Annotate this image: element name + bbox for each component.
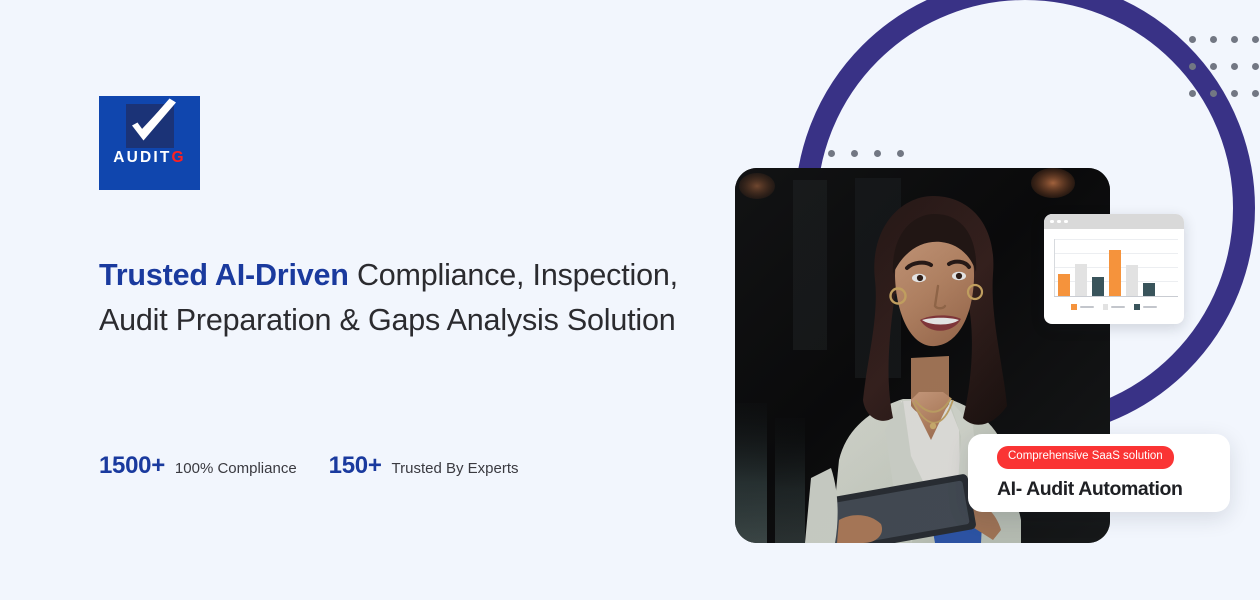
dot xyxy=(1231,90,1238,97)
decorative-dot-grid xyxy=(1189,36,1260,104)
window-dot xyxy=(1064,220,1068,224)
dot xyxy=(1210,36,1217,43)
chart-y-axis xyxy=(1054,239,1055,297)
brand-logo[interactable]: AUDITG xyxy=(99,96,200,190)
chart-bar xyxy=(1126,265,1138,296)
chart-bar xyxy=(1058,274,1070,296)
chart-bar xyxy=(1109,250,1121,296)
dot xyxy=(828,150,835,157)
chart-bars xyxy=(1058,238,1178,296)
stat-label: Trusted By Experts xyxy=(392,460,519,477)
stat-number: 150+ xyxy=(329,452,382,480)
dot xyxy=(1189,90,1196,97)
status-badge: Comprehensive SaaS solution xyxy=(997,446,1174,469)
logo-square xyxy=(126,104,174,148)
chart-legend-swatch xyxy=(1071,304,1077,310)
dot xyxy=(1210,90,1217,97)
dot xyxy=(1189,63,1196,70)
chart-legend-item xyxy=(1134,304,1157,310)
stat-label: 100% Compliance xyxy=(175,460,297,477)
chart-bar xyxy=(1092,277,1104,296)
dot xyxy=(1231,63,1238,70)
stat-number: 1500+ xyxy=(99,452,165,480)
hero-left-column: AUDITG Trusted AI-Driven Compliance, Ins… xyxy=(99,0,699,600)
chart-legend xyxy=(1044,301,1184,310)
chart-legend-label xyxy=(1080,306,1094,308)
window-dot xyxy=(1050,220,1054,224)
feature-card-title: AI- Audit Automation xyxy=(997,478,1230,501)
dot xyxy=(1252,63,1259,70)
chart-legend-label xyxy=(1111,306,1125,308)
chart-bar xyxy=(1075,264,1087,296)
stats-row: 1500+ 100% Compliance 150+ Trusted By Ex… xyxy=(99,452,519,480)
chart-bar xyxy=(1143,283,1155,296)
chart-x-axis xyxy=(1054,296,1178,297)
headline-accent: Trusted AI-Driven xyxy=(99,258,349,292)
dot xyxy=(851,150,858,157)
chart-legend-item xyxy=(1103,304,1126,310)
chart-legend-label xyxy=(1143,306,1157,308)
chart-widget xyxy=(1044,214,1184,324)
dot xyxy=(1210,63,1217,70)
chart-legend-item xyxy=(1071,304,1094,310)
dot xyxy=(1189,36,1196,43)
dot xyxy=(874,150,881,157)
dot xyxy=(1252,90,1259,97)
dot xyxy=(1252,36,1259,43)
feature-card[interactable]: Comprehensive SaaS solution AI- Audit Au… xyxy=(968,434,1230,512)
checkmark-icon xyxy=(119,98,181,154)
chart-window-titlebar xyxy=(1044,214,1184,229)
window-dot xyxy=(1057,220,1061,224)
stat-item: 150+ Trusted By Experts xyxy=(329,452,519,480)
stat-item: 1500+ 100% Compliance xyxy=(99,452,297,480)
chart-legend-swatch xyxy=(1134,304,1140,310)
chart-legend-swatch xyxy=(1103,304,1109,310)
page-title: Trusted AI-Driven Compliance, Inspection… xyxy=(99,253,694,343)
decorative-dot-row xyxy=(828,150,904,157)
chart-plot-area xyxy=(1044,229,1184,301)
dot xyxy=(1231,36,1238,43)
hero-section: AUDITG Trusted AI-Driven Compliance, Ins… xyxy=(0,0,1260,600)
dot xyxy=(897,150,904,157)
